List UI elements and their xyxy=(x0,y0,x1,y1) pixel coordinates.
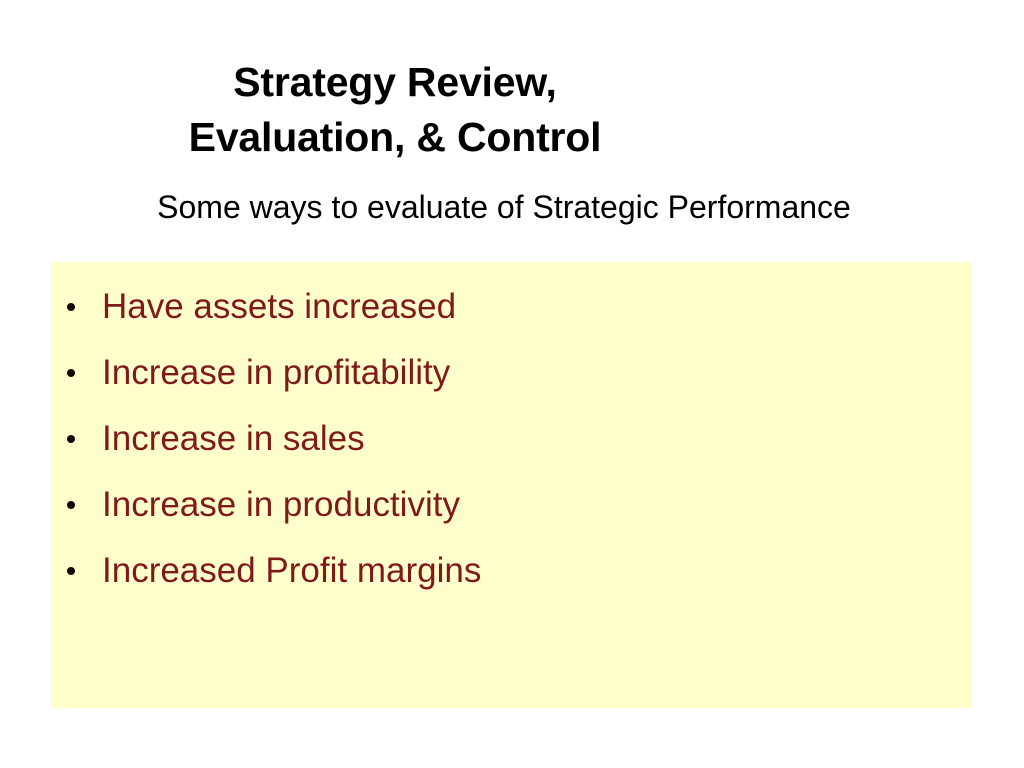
title-line-2: Evaluation, & Control xyxy=(0,110,790,165)
slide-title: Strategy Review, Evaluation, & Control xyxy=(0,55,790,165)
slide: Strategy Review, Evaluation, & Control S… xyxy=(0,0,1024,768)
list-item-label: Increase in profitability xyxy=(102,340,450,406)
bullet-dot-icon xyxy=(67,567,75,575)
list-item-label: Increased Profit margins xyxy=(102,538,481,604)
bullet-dot-icon xyxy=(67,303,75,311)
list-item: Increase in sales xyxy=(51,406,972,472)
bullet-list: Have assets increased Increase in profit… xyxy=(51,274,972,604)
slide-subtitle: Some ways to evaluate of Strategic Perfo… xyxy=(0,186,1008,228)
title-line-1: Strategy Review, xyxy=(0,55,790,110)
bullet-dot-icon xyxy=(67,501,75,509)
list-item: Increase in productivity xyxy=(51,472,972,538)
list-item-label: Increase in productivity xyxy=(102,472,460,538)
bullet-dot-icon xyxy=(67,435,75,443)
bullet-dot-icon xyxy=(67,369,75,377)
list-item: Have assets increased xyxy=(51,274,972,340)
list-item-label: Increase in sales xyxy=(102,406,365,472)
content-panel: Have assets increased Increase in profit… xyxy=(51,262,972,708)
list-item: Increased Profit margins xyxy=(51,538,972,604)
list-item: Increase in profitability xyxy=(51,340,972,406)
list-item-label: Have assets increased xyxy=(102,274,456,340)
